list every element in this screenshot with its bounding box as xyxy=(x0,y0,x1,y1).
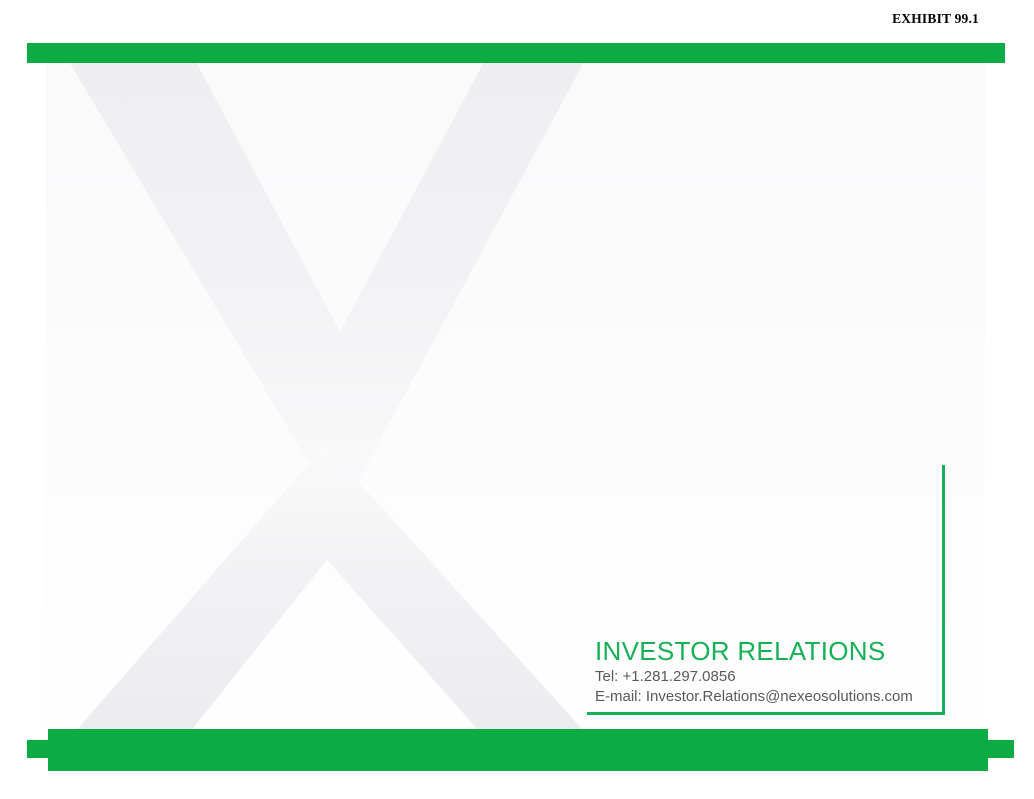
slide-page: EXHIBIT 99.1 INVESTOR RELATIONS Tel: +1.… xyxy=(0,0,1034,799)
contact-email[interactable]: E-mail: Investor.Relations@nexeosolution… xyxy=(595,687,945,707)
exhibit-label: EXHIBIT 99.1 xyxy=(0,11,979,27)
bracket-horizontal-rule xyxy=(587,712,945,715)
investor-relations-title: INVESTOR RELATIONS xyxy=(595,635,945,667)
top-accent-bar xyxy=(27,43,1005,63)
bottom-accent-bar xyxy=(48,729,988,771)
contact-text-group: INVESTOR RELATIONS Tel: +1.281.297.0856 … xyxy=(595,635,945,707)
contact-phone: Tel: +1.281.297.0856 xyxy=(595,667,945,687)
investor-relations-block: INVESTOR RELATIONS Tel: +1.281.297.0856 … xyxy=(587,465,945,715)
nexeo-x-logo-watermark-icon xyxy=(40,60,600,732)
